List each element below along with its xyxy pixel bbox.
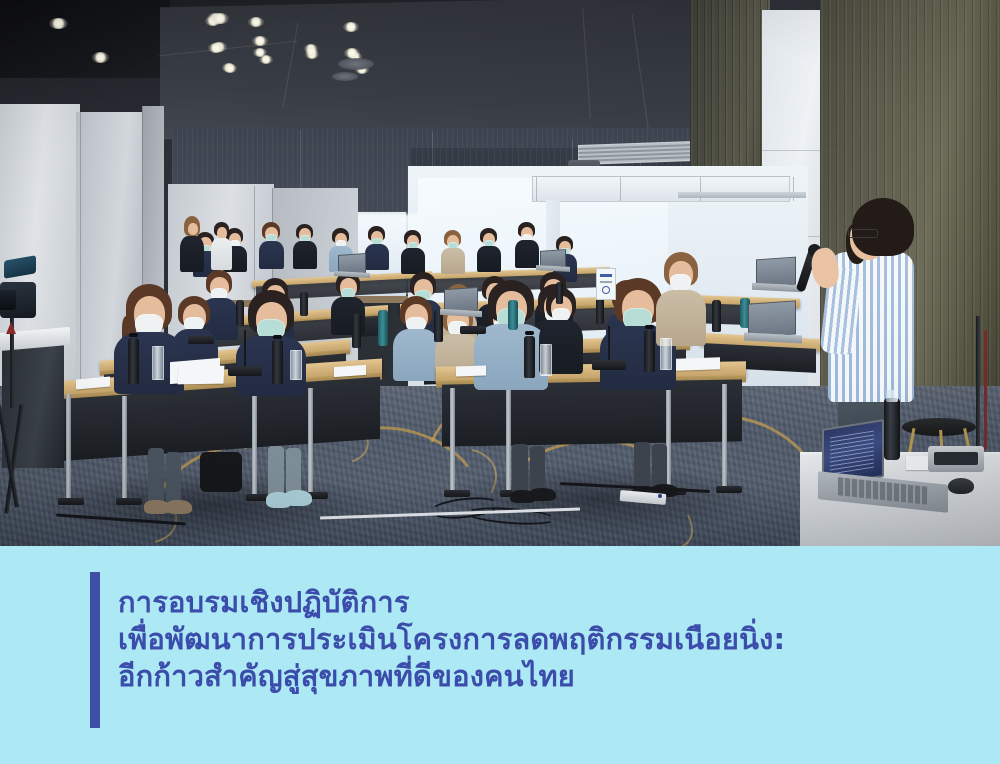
water-bottle xyxy=(300,292,308,316)
microphone-stem xyxy=(608,326,610,360)
microphone-stem xyxy=(244,330,246,366)
wall-seam xyxy=(762,150,838,151)
table-leg xyxy=(722,384,727,492)
downlight xyxy=(344,48,360,58)
water-bottle xyxy=(352,314,361,348)
laptop-slide-content xyxy=(830,431,874,478)
table-tent-sign xyxy=(596,268,616,300)
table-foot xyxy=(58,498,84,505)
document xyxy=(676,357,720,371)
caption-line-1: การอบรมเชิงปฏิบัติการ xyxy=(118,584,818,621)
drinking-glass xyxy=(660,338,672,370)
drinking-glass xyxy=(152,346,164,380)
downlight xyxy=(248,17,264,27)
water-bottle xyxy=(236,300,244,326)
caption-line-3: อีกก้าวสำคัญสู่สุขภาพที่ดีของคนไทย xyxy=(118,658,818,695)
ceiling-dark-corner xyxy=(0,0,170,78)
downlight xyxy=(208,43,224,53)
water-bottle xyxy=(644,330,655,372)
document xyxy=(456,365,486,376)
drinking-glass xyxy=(540,344,552,376)
bottle-cap xyxy=(525,331,534,335)
downlight xyxy=(92,52,109,63)
sign-logo xyxy=(602,286,610,294)
audio-cable xyxy=(984,330,987,450)
table-leg xyxy=(66,394,71,502)
downlight xyxy=(343,22,359,32)
downlight xyxy=(253,48,267,57)
presenter-hair xyxy=(852,198,914,256)
water-bottle xyxy=(712,300,721,332)
workshop-banner: การอบรมเชิงปฏิบัติการ เพื่อพัฒนาการประเม… xyxy=(0,0,1000,764)
conference-microphone xyxy=(228,366,262,376)
water-bottle xyxy=(884,398,900,460)
table-foot xyxy=(444,490,470,497)
screen-valance-divider xyxy=(620,177,621,201)
downlight xyxy=(252,36,268,46)
mic-stand-pole xyxy=(976,316,980,446)
sign-text-line xyxy=(600,274,612,277)
water-bottle xyxy=(596,296,604,324)
laptop xyxy=(748,300,796,337)
downlight xyxy=(223,64,237,73)
table-foot xyxy=(116,498,142,505)
computer-mouse xyxy=(948,478,974,494)
table-leg xyxy=(252,390,257,498)
table-foot xyxy=(716,486,742,493)
table-leg xyxy=(506,388,511,494)
sign-text-line xyxy=(600,281,612,283)
caption-text-block: การอบรมเชิงปฏิบัติการ เพื่อพัฒนาการประเม… xyxy=(118,584,818,695)
conference-microphone xyxy=(460,326,486,334)
screen-rail xyxy=(678,192,806,198)
water-bottle xyxy=(524,336,535,378)
table-leg xyxy=(450,388,455,494)
conference-microphone xyxy=(188,336,214,344)
event-photograph xyxy=(0,0,1000,546)
drinking-glass xyxy=(290,350,302,380)
ceiling-speaker xyxy=(338,58,374,70)
caption-band: การอบรมเชิงปฏิบัติการ เพื่อพัฒนาการประเม… xyxy=(0,546,1000,764)
downlight xyxy=(49,18,68,29)
downlight xyxy=(211,13,229,24)
camera-lens xyxy=(0,290,16,310)
power-strip-led xyxy=(658,494,662,498)
bottle-cap xyxy=(886,390,898,402)
water-bottle xyxy=(556,282,563,304)
bottle-cap xyxy=(129,333,138,337)
caption-line-2: เพื่อพัฒนาการประเมินโครงการลดพฤติกรรมเนื… xyxy=(118,621,818,658)
bottle-cap xyxy=(273,335,282,339)
eyeglasses xyxy=(848,229,878,238)
table-leg xyxy=(122,396,127,502)
mixer-panel xyxy=(934,452,978,465)
document xyxy=(178,366,225,385)
accent-bar xyxy=(90,572,100,728)
water-bottle xyxy=(508,300,518,330)
water-bottle xyxy=(272,340,283,384)
table-leg xyxy=(308,388,313,498)
conference-microphone xyxy=(592,360,626,370)
water-bottle xyxy=(378,310,388,346)
ceiling-speaker xyxy=(332,72,358,81)
bottle-cap xyxy=(645,325,654,329)
water-bottle xyxy=(128,338,139,384)
downlight xyxy=(305,47,318,56)
